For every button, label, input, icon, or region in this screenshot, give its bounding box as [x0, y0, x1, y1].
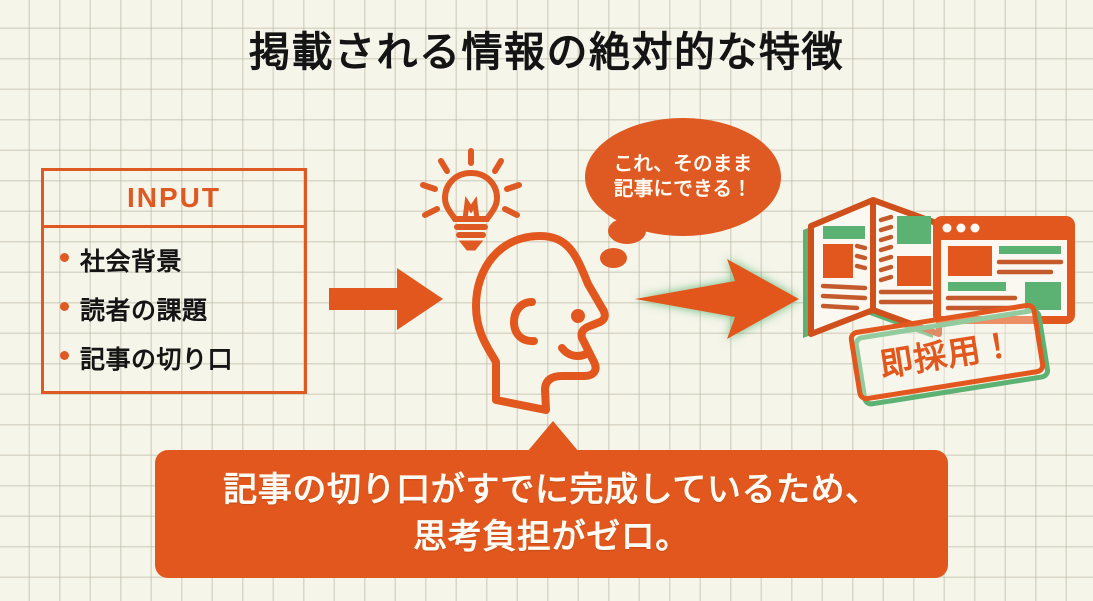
open-magazine-icon [803, 200, 939, 338]
banner-line: 思考負担がゼロ。 [413, 514, 690, 561]
input-card-list: 社会背景 読者の課題 記事の切り口 [44, 228, 304, 376]
banner-line: 記事の切り口がすでに完成しているため、 [223, 467, 880, 514]
stamp-label: 即採用！ [876, 318, 1018, 387]
arrow-right-icon [327, 262, 445, 336]
summary-banner: 記事の切り口がすでに完成しているため、 思考負担がゼロ。 [155, 450, 948, 578]
banner-pointer [527, 421, 579, 452]
infographic-canvas: 掲載される情報の絶対的な特徴 INPUT 社会背景 読者の課題 記事の切り口 [0, 0, 1093, 601]
input-card: INPUT 社会背景 読者の課題 記事の切り口 [41, 168, 307, 394]
page-title: 掲載される情報の絶対的な特徴 [0, 18, 1093, 78]
input-card-header: INPUT [44, 171, 304, 228]
list-item: 読者の課題 [80, 291, 304, 327]
input-card-header-label: INPUT [127, 182, 221, 214]
list-item: 社会背景 [80, 242, 304, 278]
thought-bubble-line: 記事にできる！ [614, 177, 752, 202]
thought-bubble-line: これ、そのまま [614, 152, 753, 177]
thought-bubble: これ、そのまま 記事にできる！ [585, 118, 781, 236]
thought-bubble-dot [600, 248, 627, 268]
list-item: 記事の切り口 [80, 340, 304, 376]
arrow-right-chevron-icon [631, 249, 803, 349]
